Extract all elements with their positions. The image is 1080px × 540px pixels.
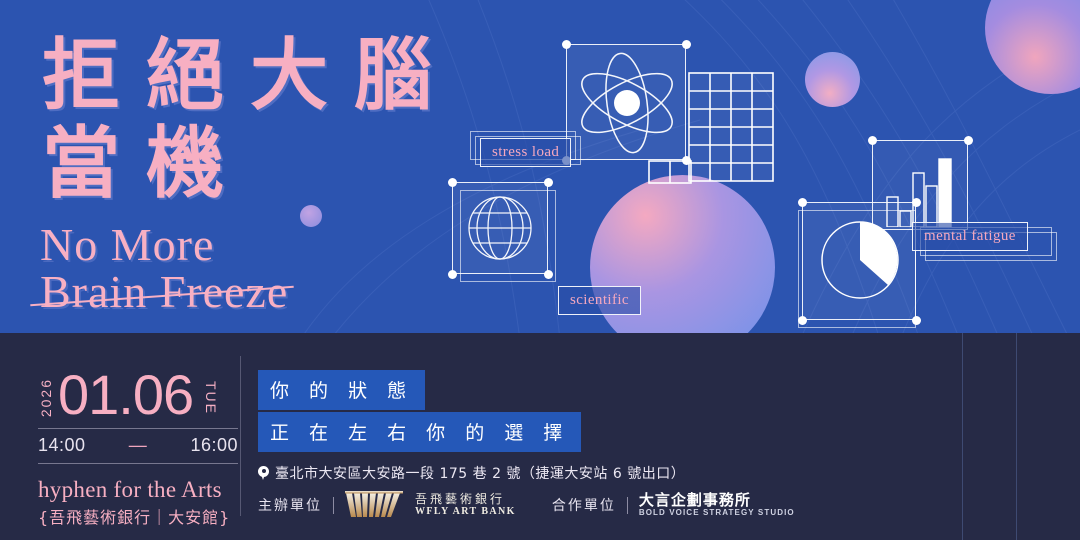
subtitle-line-1: No More [40, 222, 288, 269]
anchor-node [682, 40, 691, 49]
event-date-block: 2026 01.06 TUE 14:00 — 16:00 hyphen for … [38, 358, 238, 528]
gradient-circle-small [805, 52, 860, 107]
time-start: 14:00 [38, 435, 86, 456]
date-divider [38, 428, 238, 429]
scientific-chip: scientific [558, 286, 641, 315]
partner-name-en: BOLD VOICE STRATEGY STUDIO [639, 509, 795, 518]
section-divider [240, 356, 241, 516]
host-name-zh: 吾飛藝術銀行 [415, 493, 516, 506]
anchor-node [544, 178, 553, 187]
anchor-node [544, 270, 553, 279]
title-char: 大 [250, 38, 330, 114]
event-time-range: 14:00 — 16:00 [38, 435, 238, 456]
mental-fatigue-chip: mental fatigue [912, 222, 1028, 251]
watermark-divider [1016, 333, 1017, 540]
grid-table-stub [648, 160, 692, 184]
partner-name-zh: 大言企劃事務所 [639, 492, 795, 509]
stress-load-chip: stress load [480, 138, 571, 167]
title-char: 絕 [146, 38, 226, 114]
anchor-node [964, 136, 973, 145]
anchor-node [912, 316, 921, 325]
tagline-secondary: 正 在 左 右 你 的 選 擇 [258, 412, 581, 452]
title-char: 當 [42, 126, 122, 202]
bar-chart-motif [885, 155, 959, 227]
subtitle: No More Brain Freeze [40, 222, 288, 316]
time-dash: — [129, 435, 148, 456]
anchor-node [868, 136, 877, 145]
event-date: 01.06 [58, 370, 193, 420]
venue-divider [38, 463, 238, 464]
title-char: 拒 [42, 38, 122, 114]
divider [333, 497, 334, 514]
location-pin-icon [258, 466, 269, 481]
gradient-dot-hero [300, 205, 322, 227]
venue-name-zh: {吾飛藝術銀行｜大安館} [38, 504, 238, 528]
venue-name-en: hyphen for the Arts [38, 477, 238, 503]
wfly-w-mark-icon [345, 491, 407, 519]
anchor-node [562, 40, 571, 49]
event-weekday: TUE [203, 381, 219, 415]
page-title: 拒 絕 大 腦 當 機 [42, 38, 434, 203]
partner-label: 合作單位 [552, 495, 616, 515]
anchor-node [448, 178, 457, 187]
host-logo: 吾飛藝術銀行 WFLY ART BANK [345, 491, 516, 519]
host-name-en: WFLY ART BANK [415, 506, 516, 517]
subtitle-line-2: Brain Freeze [40, 269, 288, 316]
event-year: 2026 [38, 378, 54, 417]
venue-address: 臺北市大安區大安路一段 175 巷 2 號（捷運大安站 6 號出口） [258, 463, 685, 483]
event-poster: 拒 絕 大 腦 當 機 No More Brain Freeze [0, 0, 1080, 540]
anchor-node [448, 270, 457, 279]
address-text: 臺北市大安區大安路一段 175 巷 2 號（捷運大安站 6 號出口） [275, 463, 685, 483]
title-char: 腦 [354, 38, 434, 114]
anchor-node [798, 316, 807, 325]
globe-icon [462, 190, 538, 266]
watermark-divider [962, 333, 963, 540]
anchor-node [798, 198, 807, 207]
hero-panel: 拒 絕 大 腦 當 機 No More Brain Freeze [0, 0, 1080, 333]
divider [627, 497, 628, 514]
grid-table-motif [688, 72, 774, 182]
organizer-row: 主辦單位 [258, 491, 795, 519]
host-label: 主辦單位 [258, 495, 322, 515]
title-char: 機 [146, 126, 226, 202]
time-end: 16:00 [190, 435, 238, 456]
tagline-primary: 你 的 狀 態 [258, 370, 425, 410]
atom-icon [570, 48, 684, 158]
partner-logo: 大言企劃事務所 BOLD VOICE STRATEGY STUDIO [639, 492, 795, 517]
